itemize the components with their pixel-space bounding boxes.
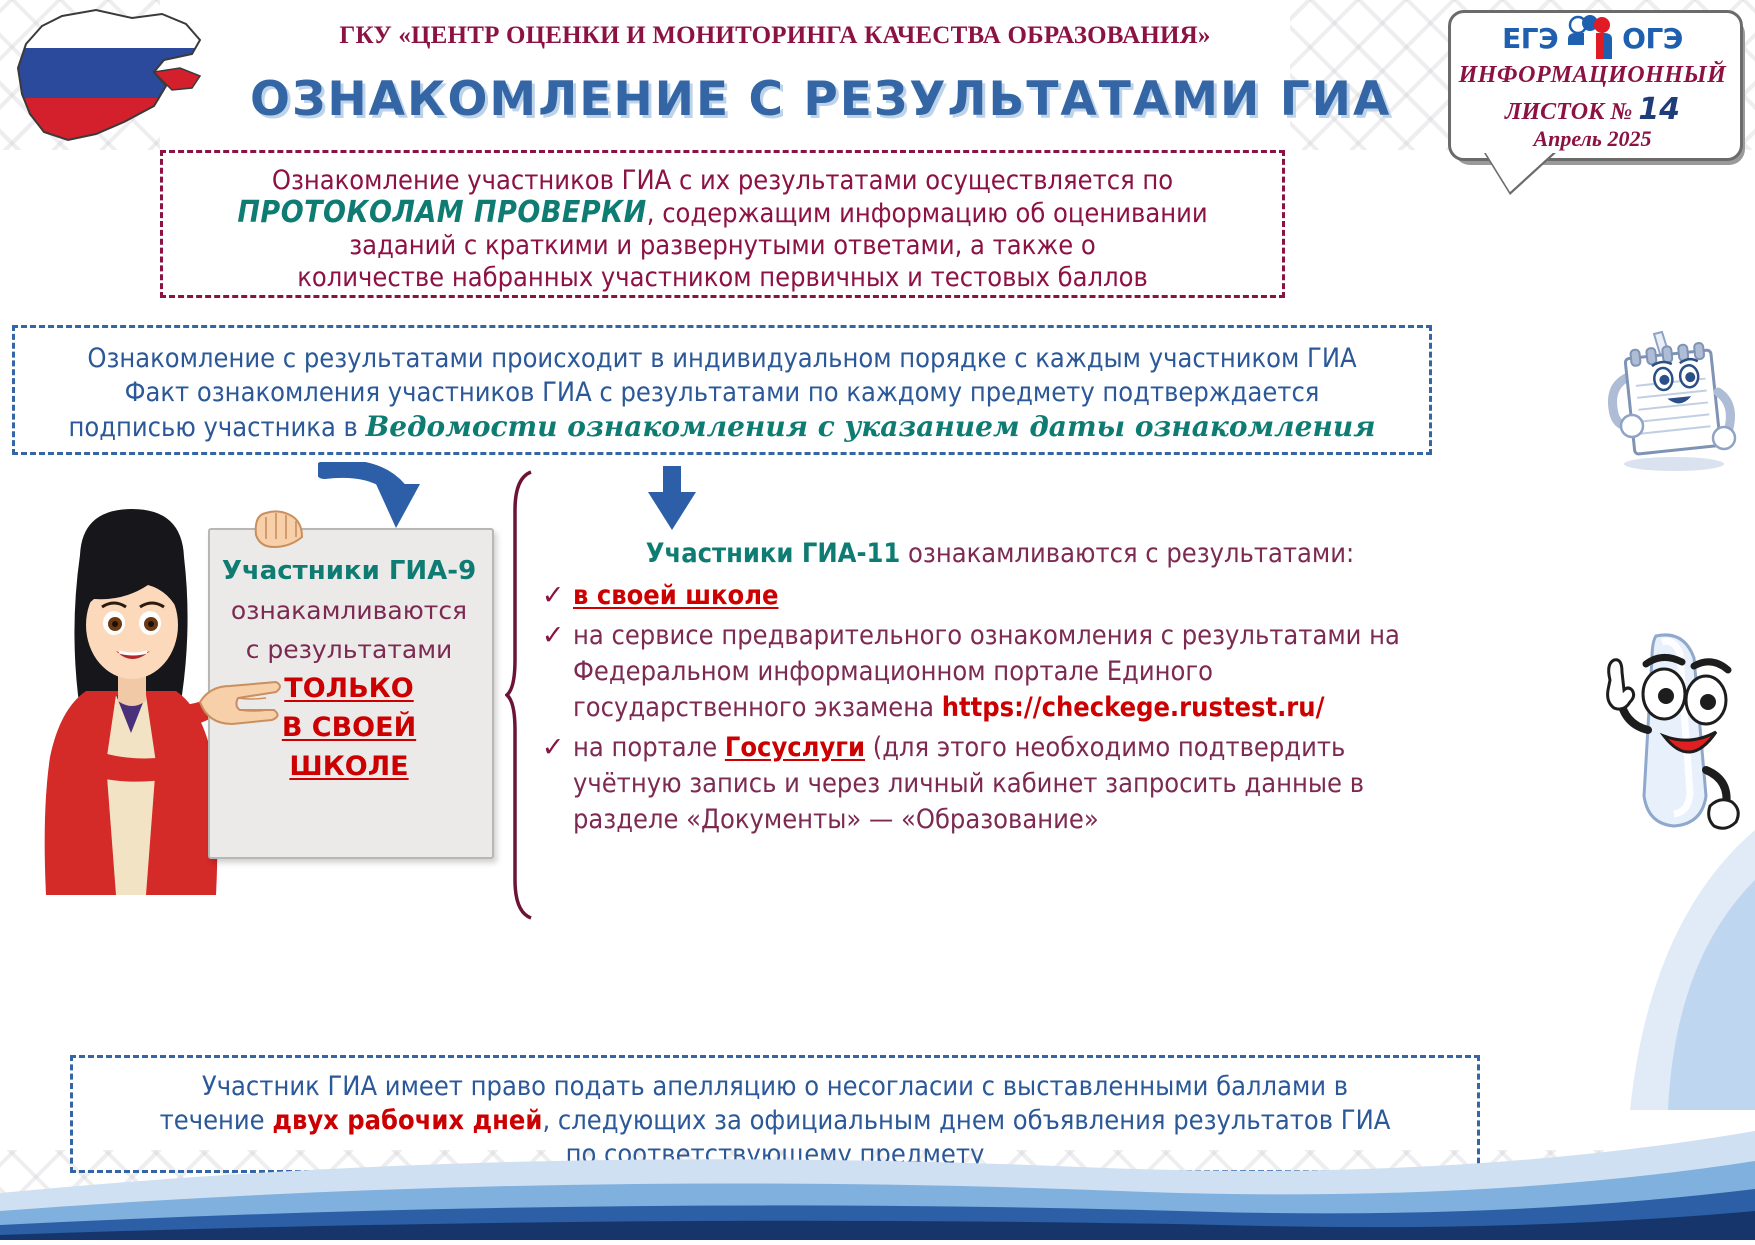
arrow-to-gia9 bbox=[318, 462, 430, 534]
gia9-emphasis-line-3: ШКОЛЕ bbox=[214, 747, 484, 786]
gia9-emphasis-line-1: ТОЛЬКО bbox=[214, 669, 484, 708]
logo-label-oge: ОГЭ bbox=[1622, 22, 1683, 55]
bullet-service-text: на сервисе предварительного ознакомления… bbox=[573, 618, 1443, 726]
individual-procedure-box: Ознакомление с результатами происходит в… bbox=[12, 325, 1432, 455]
bullet-school-emphasis[interactable]: в своей школе bbox=[573, 580, 779, 611]
gia9-body-line-2: с результатами bbox=[214, 630, 484, 669]
protokol-line-1: Ознакомление участников ГИА с их результ… bbox=[272, 165, 1173, 196]
protokol-line-4: количестве набранных участником первичны… bbox=[297, 262, 1148, 293]
decorative-wave-bottom bbox=[0, 1085, 1755, 1240]
checkege-url-link[interactable]: https://checkege.rustest.ru/ bbox=[942, 692, 1325, 723]
protokol-accent-term: ПРОТОКОЛАМ ПРОВЕРКИ bbox=[237, 195, 646, 230]
ege-oge-logo: ЕГЭ ОГЭ bbox=[1448, 14, 1737, 62]
gia9-sign-text: Участники ГИА-9 ознакамливаются с резуль… bbox=[214, 552, 484, 786]
bullet-school-text: в своей школе bbox=[573, 578, 1443, 614]
arrow-to-gia11 bbox=[630, 462, 714, 534]
info-sheet-badge: ЕГЭ ОГЭ ИНФОРМАЦИОННЫЙ ЛИСТОК № 14 Апрел… bbox=[1448, 10, 1745, 165]
protocols-info-box: Ознакомление участников ГИА с их результ… bbox=[160, 150, 1285, 298]
badge-sheet-label: ЛИСТОК № bbox=[1505, 99, 1638, 125]
decorative-swoosh-right bbox=[1500, 810, 1755, 1110]
individual-line-1: Ознакомление с результатами происходит в… bbox=[87, 343, 1356, 374]
list-item: ✓ на портале Госуслуги (для этого необхо… bbox=[533, 730, 1443, 838]
checkmark-icon: ✓ bbox=[533, 730, 573, 766]
gia9-emphasis-line-2: В СВОЕЙ bbox=[214, 708, 484, 747]
protokol-line-2-tail: , содержащим информацию об оценивании bbox=[647, 198, 1208, 229]
gosuslugi-link[interactable]: Госуслуги bbox=[725, 732, 865, 763]
badge-sheet-number: 14 bbox=[1638, 92, 1680, 127]
bullet-gosuslugi-prefix: на портале bbox=[573, 732, 725, 763]
gia11-heading: Участники ГИА-11 ознакамливаются с резул… bbox=[560, 538, 1440, 569]
poster-canvas: ГКУ «ЦЕНТР ОЦЕНКИ И МОНИТОРИНГА КАЧЕСТВА… bbox=[0, 0, 1755, 1240]
list-item: ✓ на сервисе предварительного ознакомлен… bbox=[533, 618, 1443, 726]
badge-date: Апрель 2025 bbox=[1448, 126, 1737, 152]
hand-holding-sign-top-icon bbox=[250, 505, 308, 551]
badge-speech-tail bbox=[1484, 150, 1556, 192]
bullet-gosuslugi-text: на портале Госуслуги (для этого необходи… bbox=[573, 730, 1443, 838]
protokol-line-3: заданий с краткими и развернутыми ответа… bbox=[349, 230, 1095, 261]
badge-line-informational: ИНФОРМАЦИОННЫЙ bbox=[1448, 62, 1737, 89]
gia9-heading: Участники ГИА-9 bbox=[214, 552, 484, 591]
list-item: ✓ в своей школе bbox=[533, 578, 1443, 614]
badge-line-sheet-number: ЛИСТОК № 14 bbox=[1448, 92, 1737, 127]
ege-oge-people-emblem-icon bbox=[1560, 15, 1620, 61]
notepad-character-with-pencil-icon bbox=[1596, 322, 1742, 472]
checkmark-icon: ✓ bbox=[533, 618, 573, 654]
gia11-bullet-list: ✓ в своей школе ✓ на сервисе предварител… bbox=[533, 578, 1443, 842]
gia11-heading-bold: Участники ГИА-11 bbox=[646, 538, 901, 569]
crimea-map-russian-flag-icon bbox=[4, 2, 219, 152]
individual-statement-name: Ведомости ознакомления с указанием даты … bbox=[366, 410, 1376, 443]
gia9-body-line-1: ознакамливаются bbox=[214, 591, 484, 630]
individual-line-2: Факт ознакомления участников ГИА с резул… bbox=[125, 377, 1320, 408]
individual-line-3-prefix: подписью участника в bbox=[68, 412, 365, 443]
page-title-organization: ГКУ «ЦЕНТР ОЦЕНКИ И МОНИТОРИНГА КАЧЕСТВА… bbox=[300, 22, 1250, 50]
page-title-main: ОЗНАКОМЛЕНИЕ С РЕЗУЛЬТАТАМИ ГИА bbox=[250, 72, 1300, 127]
gia11-heading-rest: ознакамливаются с результатами: bbox=[900, 538, 1354, 569]
logo-label-ege: ЕГЭ bbox=[1502, 22, 1558, 55]
checkmark-icon: ✓ bbox=[533, 578, 573, 614]
